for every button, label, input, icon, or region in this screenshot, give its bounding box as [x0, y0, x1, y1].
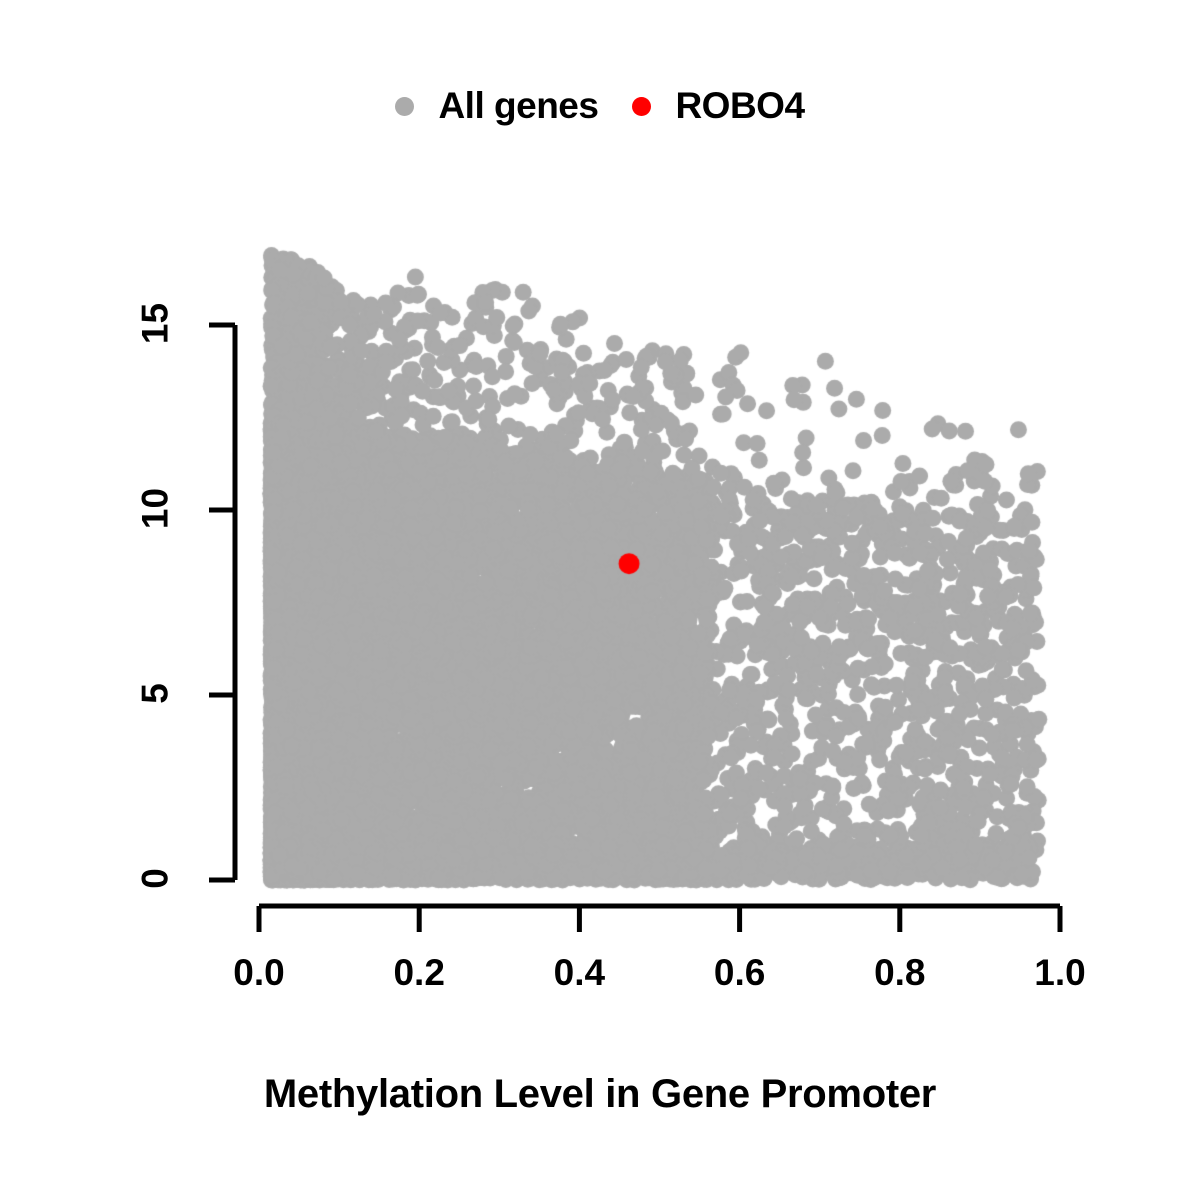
- x-axis-tick-label-2: 0.4: [519, 954, 639, 991]
- scatter-point-cloud: [0, 0, 1200, 1200]
- x-axis-title: Methylation Level in Gene Promoter: [0, 1072, 1200, 1117]
- plot-area: [0, 0, 1200, 1200]
- y-axis-tick-label-0: 0: [137, 839, 174, 919]
- x-axis-tick-label-3: 0.6: [680, 954, 800, 991]
- x-axis-tick-label-0: 0.0: [199, 954, 319, 991]
- x-axis-tick-label-4: 0.8: [840, 954, 960, 991]
- y-axis-tick-label-3: 15: [137, 284, 174, 364]
- x-axis-tick-label-5: 1.0: [1000, 954, 1120, 991]
- y-axis-tick-label-2: 10: [137, 469, 174, 549]
- x-axis-tick-label-1: 0.2: [359, 954, 479, 991]
- y-axis-tick-label-1: 5: [137, 654, 174, 734]
- scatter-plot-figure: All genes ROBO4 051015 0.00.20.40.60.81.…: [0, 0, 1200, 1200]
